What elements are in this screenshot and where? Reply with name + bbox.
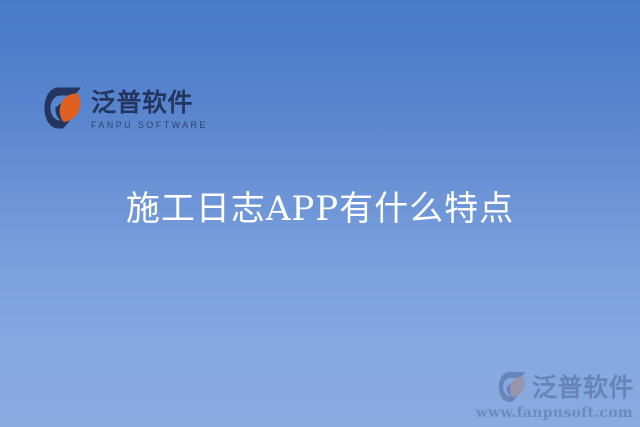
watermark-name-cn: 泛普软件 [532,375,634,400]
watermark-logo-row: 泛普软件 [498,371,634,403]
brand-logo: 泛普软件 FANPU SOFTWARE [44,86,208,130]
fanpu-logo-icon [498,371,528,403]
watermark: 泛普软件 www.fanpusoft.com [476,371,634,421]
brand-wordmark: 泛普软件 FANPU SOFTWARE [91,86,208,130]
brand-name-en: FANPU SOFTWARE [91,120,208,130]
fanpu-logo-icon [44,86,84,130]
brand-name-cn: 泛普软件 [91,89,208,116]
watermark-url: www.fanpusoft.com [476,405,633,421]
page-title: 施工日志APP有什么特点 [0,185,640,233]
slide-canvas: 泛普软件 FANPU SOFTWARE 施工日志APP有什么特点 泛普软件 ww… [0,0,640,427]
